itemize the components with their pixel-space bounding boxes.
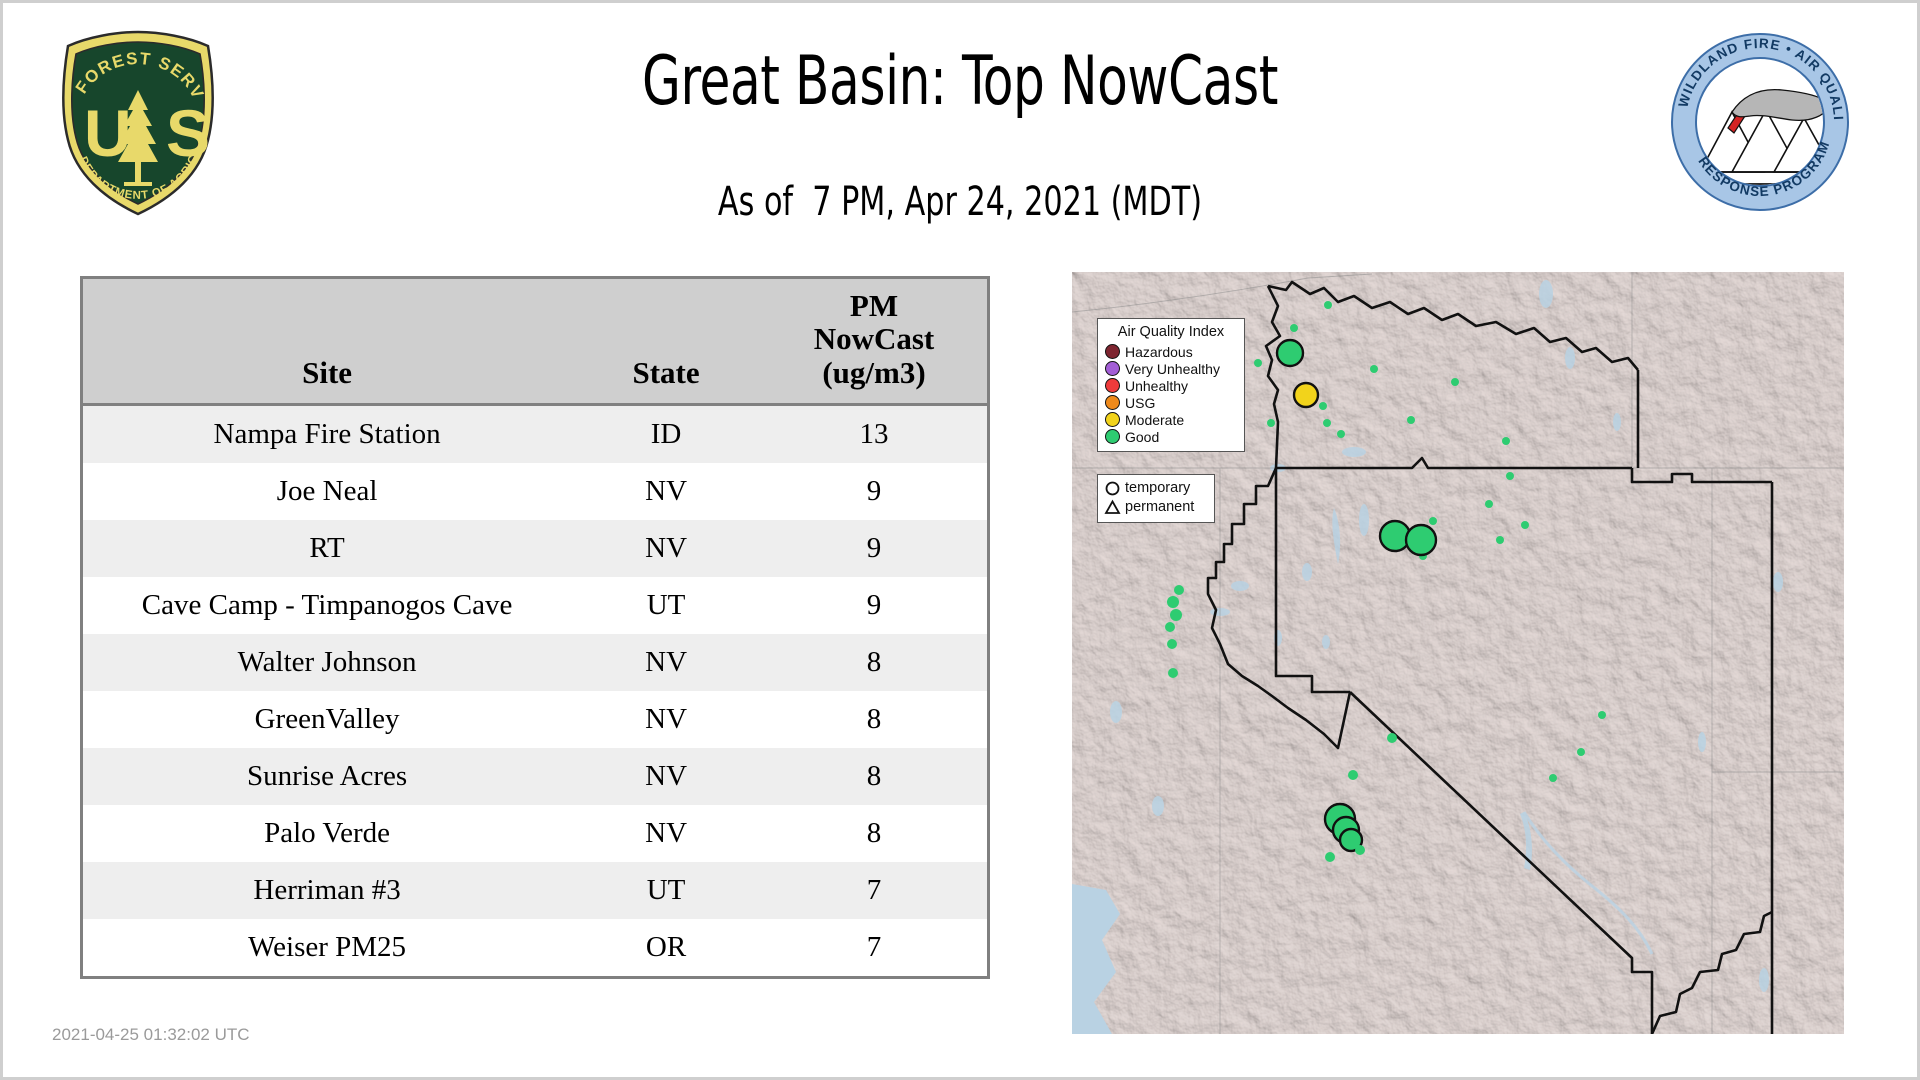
- air-quality-monitor-map[interactable]: Air Quality Index HazardousVery Unhealth…: [1072, 272, 1844, 1034]
- monitor-marker[interactable]: [1387, 733, 1397, 743]
- column-header-site: Site: [83, 279, 571, 405]
- legend-row-permanent: permanent: [1104, 498, 1208, 517]
- monitor-marker[interactable]: [1549, 774, 1557, 782]
- table-row: Palo VerdeNV8: [83, 805, 987, 862]
- cell-state: ID: [571, 405, 761, 464]
- monitor-marker[interactable]: [1167, 596, 1179, 608]
- cell-site: Weiser PM25: [83, 919, 571, 976]
- wildland-fire-air-quality-seal-logo: WILDLAND FIRE • AIR QUALITY RESPONSE PRO…: [1670, 32, 1850, 212]
- monitor-marker[interactable]: [1506, 472, 1514, 480]
- monitor-type-legend: temporary permanent: [1097, 474, 1215, 523]
- monitor-marker[interactable]: [1429, 517, 1437, 525]
- air-quality-index-legend: Air Quality Index HazardousVery Unhealth…: [1097, 318, 1245, 452]
- cell-pm-nowcast: 9: [761, 520, 987, 577]
- monitor-marker[interactable]: [1325, 852, 1335, 862]
- legend-title: Air Quality Index: [1105, 324, 1237, 340]
- legend-row-temporary: temporary: [1104, 479, 1208, 498]
- cell-site: Walter Johnson: [83, 634, 571, 691]
- legend-label: Unhealthy: [1125, 379, 1188, 393]
- page-title: Great Basin: Top NowCast: [386, 48, 1534, 116]
- monitor-marker[interactable]: [1598, 711, 1606, 719]
- cell-site: Nampa Fire Station: [83, 405, 571, 464]
- legend-swatch-icon: [1105, 395, 1120, 410]
- circle-outline-icon: [1104, 480, 1121, 497]
- legend-swatch-icon: [1105, 412, 1120, 427]
- monitor-marker[interactable]: [1290, 324, 1298, 332]
- monitor-marker[interactable]: [1319, 402, 1327, 410]
- column-header-line-2: NowCast: [765, 322, 983, 355]
- cell-pm-nowcast: 7: [761, 919, 987, 976]
- column-header-line-3: (ug/m3): [765, 356, 983, 389]
- triangle-outline-icon: [1104, 499, 1121, 516]
- cell-pm-nowcast: 8: [761, 634, 987, 691]
- monitor-marker[interactable]: [1407, 416, 1415, 424]
- monitor-marker[interactable]: [1277, 340, 1303, 366]
- table-row: Weiser PM25OR7: [83, 919, 987, 976]
- cell-pm-nowcast: 9: [761, 463, 987, 520]
- monitor-marker[interactable]: [1496, 536, 1504, 544]
- cell-site: Palo Verde: [83, 805, 571, 862]
- monitor-marker[interactable]: [1355, 845, 1365, 855]
- column-header-state: State: [571, 279, 761, 405]
- legend-label: Hazardous: [1125, 345, 1193, 359]
- monitor-marker[interactable]: [1577, 748, 1585, 756]
- monitor-marker[interactable]: [1348, 770, 1358, 780]
- legend-row-good: Good: [1105, 428, 1237, 445]
- table-row: Joe NealNV9: [83, 463, 987, 520]
- legend-row-usg: USG: [1105, 394, 1237, 411]
- monitor-marker[interactable]: [1451, 378, 1459, 386]
- legend-row-unhealthy: Unhealthy: [1105, 377, 1237, 394]
- cell-state: NV: [571, 748, 761, 805]
- page-subtitle: As of 7 PM, Apr 24, 2021 (MDT): [372, 182, 1548, 222]
- column-header-pm-nowcast: PM NowCast (ug/m3): [761, 279, 987, 405]
- table-row: RTNV9: [83, 520, 987, 577]
- legend-swatch-icon: [1105, 361, 1120, 376]
- cell-pm-nowcast: 13: [761, 405, 987, 464]
- legend-row-very-unhealthy: Very Unhealthy: [1105, 360, 1237, 377]
- cell-site: Cave Camp - Timpanogos Cave: [83, 577, 571, 634]
- top-nowcast-table: Site State PM NowCast (ug/m3) Nampa Fire…: [80, 276, 990, 979]
- cell-site: GreenValley: [83, 691, 571, 748]
- cell-state: NV: [571, 520, 761, 577]
- table-row: GreenValleyNV8: [83, 691, 987, 748]
- monitor-marker[interactable]: [1485, 500, 1493, 508]
- legend-label-temporary: temporary: [1125, 481, 1190, 496]
- monitor-marker[interactable]: [1294, 383, 1318, 407]
- cell-state: OR: [571, 919, 761, 976]
- monitor-marker[interactable]: [1165, 622, 1175, 632]
- table-body: Nampa Fire StationID13Joe NealNV9RTNV9Ca…: [83, 405, 987, 977]
- cell-pm-nowcast: 8: [761, 805, 987, 862]
- monitor-marker[interactable]: [1502, 437, 1510, 445]
- monitor-marker[interactable]: [1323, 419, 1331, 427]
- legend-swatch-icon: [1105, 429, 1120, 444]
- cell-state: NV: [571, 463, 761, 520]
- legend-label: Very Unhealthy: [1125, 362, 1220, 376]
- monitor-marker[interactable]: [1337, 430, 1345, 438]
- table-row: Sunrise AcresNV8: [83, 748, 987, 805]
- legend-row-hazardous: Hazardous: [1105, 343, 1237, 360]
- legend-label: Moderate: [1125, 413, 1184, 427]
- cell-pm-nowcast: 8: [761, 748, 987, 805]
- monitor-marker[interactable]: [1521, 521, 1529, 529]
- cell-pm-nowcast: 7: [761, 862, 987, 919]
- monitor-marker[interactable]: [1406, 525, 1436, 555]
- cell-state: NV: [571, 691, 761, 748]
- monitor-marker[interactable]: [1324, 301, 1332, 309]
- cell-state: NV: [571, 634, 761, 691]
- cell-pm-nowcast: 8: [761, 691, 987, 748]
- legend-swatch-icon: [1105, 378, 1120, 393]
- monitor-marker[interactable]: [1254, 359, 1262, 367]
- legend-label-permanent: permanent: [1125, 500, 1194, 515]
- column-header-line-1: PM: [765, 289, 983, 322]
- legend-swatch-icon: [1105, 344, 1120, 359]
- legend-row-moderate: Moderate: [1105, 411, 1237, 428]
- generated-timestamp: 2021-04-25 01:32:02 UTC: [52, 1025, 250, 1045]
- cell-site: Herriman #3: [83, 862, 571, 919]
- monitor-marker[interactable]: [1174, 585, 1184, 595]
- table-row: Herriman #3UT7: [83, 862, 987, 919]
- monitor-marker[interactable]: [1167, 639, 1177, 649]
- monitor-marker[interactable]: [1370, 365, 1378, 373]
- monitor-marker[interactable]: [1168, 668, 1178, 678]
- table-row: Nampa Fire StationID13: [83, 405, 987, 464]
- cell-state: UT: [571, 862, 761, 919]
- cell-state: UT: [571, 577, 761, 634]
- legend-label: Good: [1125, 430, 1159, 444]
- table-row: Walter JohnsonNV8: [83, 634, 987, 691]
- cell-pm-nowcast: 9: [761, 577, 987, 634]
- legend-label: USG: [1125, 396, 1155, 410]
- monitor-marker[interactable]: [1267, 419, 1275, 427]
- cell-site: RT: [83, 520, 571, 577]
- table-header-row: Site State PM NowCast (ug/m3): [83, 279, 987, 405]
- table-row: Cave Camp - Timpanogos CaveUT9: [83, 577, 987, 634]
- cell-site: Sunrise Acres: [83, 748, 571, 805]
- cell-state: NV: [571, 805, 761, 862]
- usda-forest-service-shield-logo: FOREST SERVICE U S DEPARTMENT OF AGRICUL…: [48, 28, 228, 218]
- monitor-marker[interactable]: [1170, 609, 1182, 621]
- cell-site: Joe Neal: [83, 463, 571, 520]
